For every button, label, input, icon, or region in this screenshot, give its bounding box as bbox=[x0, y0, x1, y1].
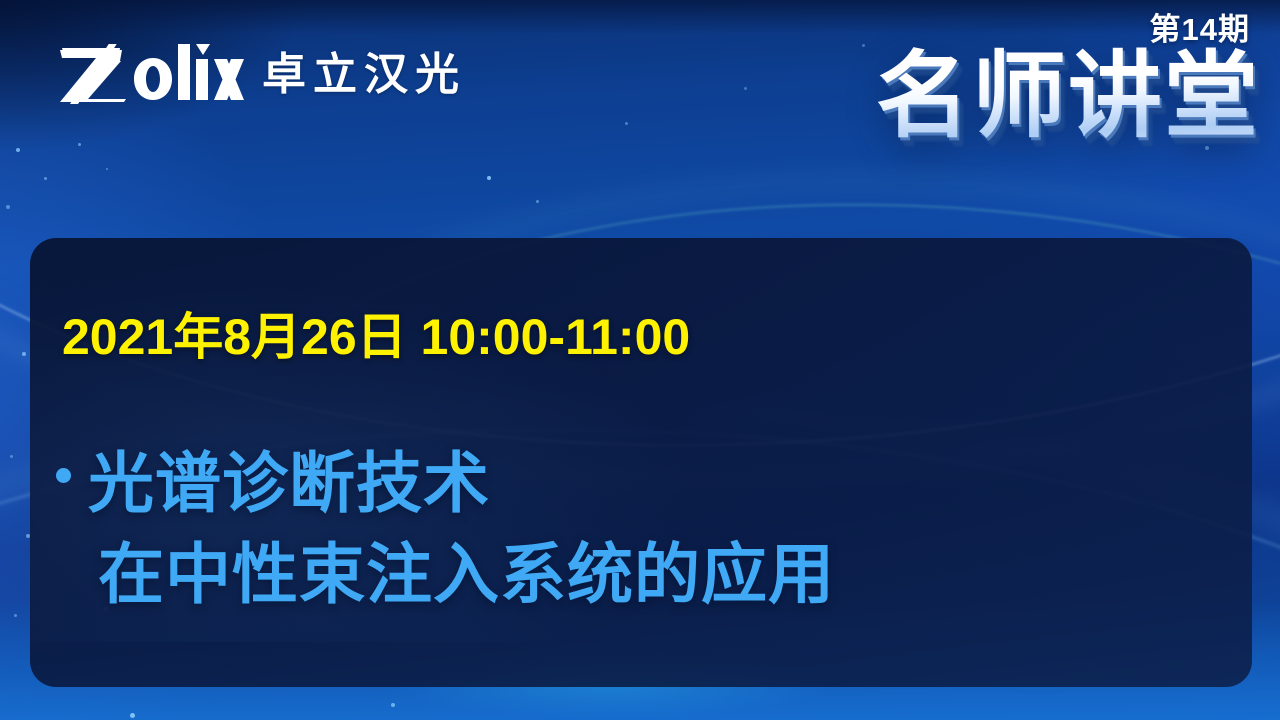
topic-block: 光谱诊断技术 在中性束注入系统的应用 bbox=[56, 438, 1176, 620]
brand-logo-cn-text: 卓立汉光 bbox=[262, 53, 466, 97]
background-top-band bbox=[0, 0, 1280, 34]
bullet-icon bbox=[56, 468, 71, 483]
episode-label: 第14期 bbox=[1150, 14, 1250, 45]
series-title: 名师讲堂 bbox=[876, 46, 1260, 146]
brand-logo: 卓立汉光 bbox=[58, 44, 466, 106]
topic-lines: 光谱诊断技术 在中性束注入系统的应用 bbox=[88, 438, 1176, 620]
topic-line-2: 在中性束注入系统的应用 bbox=[88, 529, 1176, 620]
date-time-text: 2021年8月26日 10:00-11:00 bbox=[62, 312, 690, 362]
webinar-poster: 卓立汉光 第14期 名师讲堂 2021年8月26日 10:00-11:00 光谱… bbox=[0, 0, 1280, 720]
topic-line-1: 光谱诊断技术 bbox=[88, 438, 1176, 529]
zolix-logo-icon bbox=[58, 44, 244, 106]
